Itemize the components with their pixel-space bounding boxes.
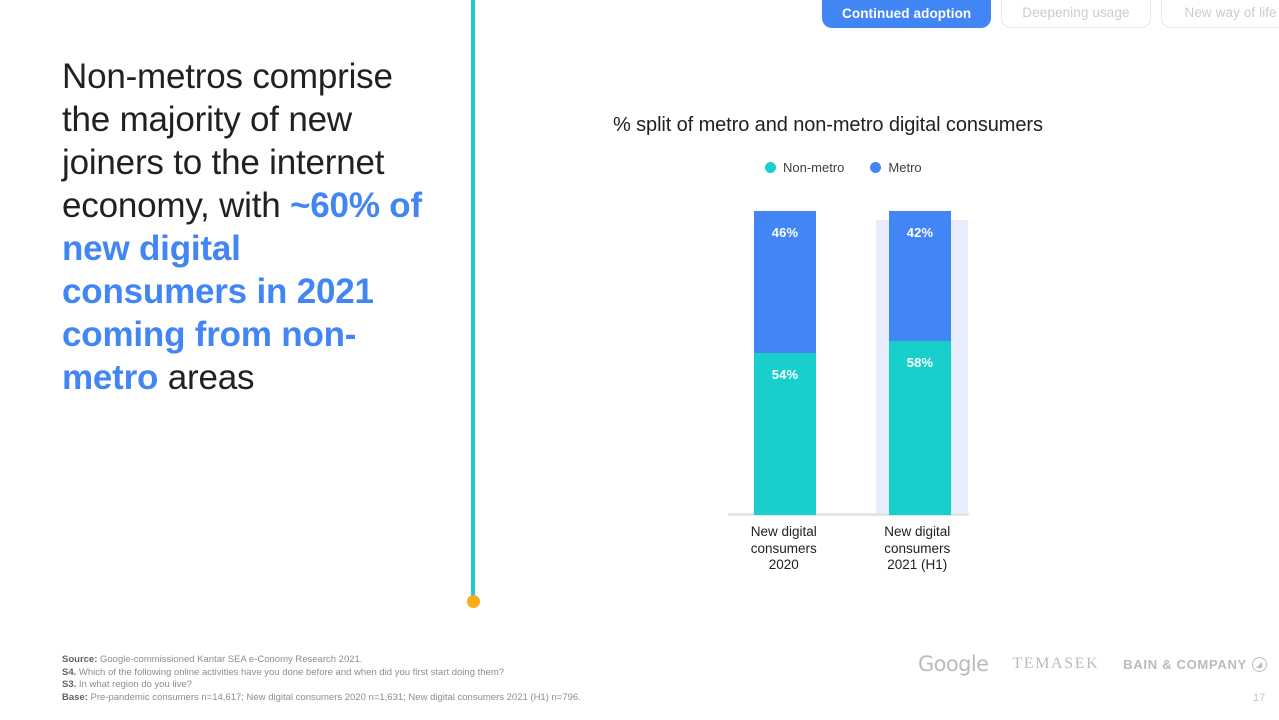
x-axis-label-2020: New digital consumers 2020 [728,524,840,574]
vertical-accent-line [471,0,475,600]
bar-segment-non-metro-2020: 54% [754,353,816,515]
page-number: 17 [1253,692,1265,704]
legend-label-non-metro: Non-metro [783,160,844,175]
footnote-s4-text: Which of the following online activities… [76,667,504,678]
tab-deepening-usage[interactable]: Deepening usage [1001,0,1150,28]
legend-label-metro: Metro [888,160,921,175]
bain-company-logo-text: BAIN & COMPANY [1123,657,1247,672]
x-axis-label-2021-line2: consumers [862,541,974,558]
legend-swatch-non-metro [765,162,776,173]
bar-new-digital-consumers-2020[interactable]: 46% 54% [754,211,816,515]
tab-deepening-usage-label: Deepening usage [1022,5,1129,20]
footnote-source-text: Google-commissioned Kantar SEA e-Conomy … [97,654,362,665]
footnotes: Source: Google-commissioned Kantar SEA e… [62,654,581,704]
footnote-s3-label: S3. [62,679,76,690]
legend-item-metro: Metro [870,160,921,175]
footnote-source-label: Source: [62,654,97,665]
footnote-s4: S4. Which of the following online activi… [62,667,581,680]
bar-value-metro-2020: 46% [772,225,799,240]
headline-part-2: areas [158,358,254,397]
slide-tabbar: Continued adoption Deepening usage New w… [822,0,1279,28]
footnote-s3-text: In what region do you live? [76,679,192,690]
bar-segment-metro-2020: 46% [754,211,816,353]
partner-logos: Google TEMASEK BAIN & COMPANY ◢ [918,652,1267,676]
google-logo: Google [918,652,988,676]
x-axis-label-2020-line1: New digital [728,524,840,541]
chart-title: % split of metro and non-metro digital c… [613,114,1043,137]
chart-x-axis-labels: New digital consumers 2020 New digital c… [728,524,973,574]
legend-swatch-metro [870,162,881,173]
footnote-base-label: Base: [62,692,88,703]
bar-segment-non-metro-2021: 58% [889,341,951,515]
x-axis-label-2021-line3: 2021 (H1) [862,557,974,574]
bar-value-non-metro-2020: 54% [772,367,799,382]
bain-company-logo: BAIN & COMPANY ◢ [1123,657,1267,672]
bar-value-non-metro-2021: 58% [907,355,934,370]
footnote-s3: S3. In what region do you live? [62,679,581,692]
x-axis-label-2020-line3: 2020 [728,557,840,574]
footnote-base: Base: Pre-pandemic consumers n=14,617; N… [62,692,581,705]
page-title: Non-metros comprise the majority of new … [62,55,422,399]
footnote-source: Source: Google-commissioned Kantar SEA e… [62,654,581,667]
x-axis-label-2020-line2: consumers [728,541,840,558]
tab-new-way-of-life[interactable]: New way of life [1161,0,1279,28]
stacked-bar-chart: 46% 54% 42% 58% [728,215,973,520]
temasek-logo: TEMASEK [1012,655,1099,673]
chart-legend: Non-metro Metro [765,160,922,175]
x-axis-label-2021-line1: New digital [862,524,974,541]
tab-continued-adoption[interactable]: Continued adoption [822,0,991,28]
accent-dot-icon [467,595,480,608]
legend-item-non-metro: Non-metro [765,160,844,175]
bain-mark-icon: ◢ [1252,657,1267,672]
tab-continued-adoption-label: Continued adoption [842,6,971,21]
bar-value-metro-2021: 42% [907,225,934,240]
bar-segment-metro-2021: 42% [889,211,951,341]
tab-new-way-of-life-label: New way of life [1184,5,1276,20]
bar-new-digital-consumers-2021[interactable]: 42% 58% [889,211,951,515]
footnote-base-text: Pre-pandemic consumers n=14,617; New dig… [88,692,581,703]
footnote-s4-label: S4. [62,667,76,678]
x-axis-label-2021: New digital consumers 2021 (H1) [862,524,974,574]
